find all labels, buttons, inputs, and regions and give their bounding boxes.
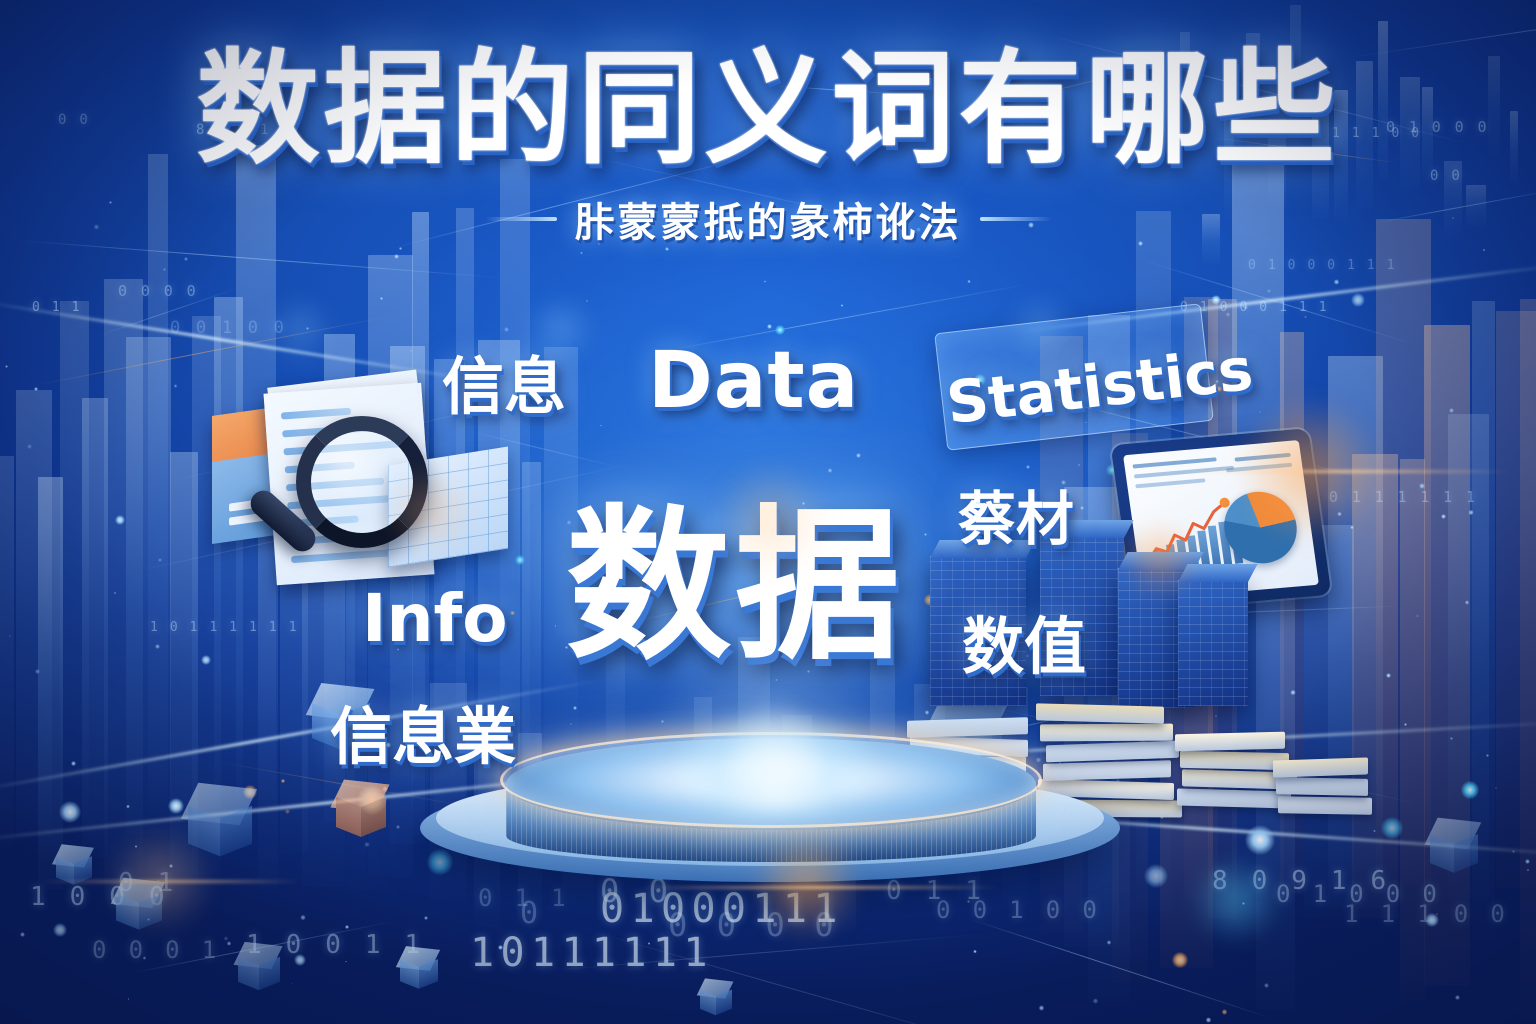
sparkle: [1026, 465, 1030, 469]
label-xinxiye: 信息業: [330, 686, 516, 776]
sparkle: [174, 384, 177, 387]
binary-digit-cluster: 1 0 1 1 1 1 1 1: [150, 620, 299, 635]
sparkle: [27, 444, 32, 449]
sparkle: [1304, 316, 1306, 318]
cube-left-face: [56, 857, 74, 885]
data-cube: [56, 846, 90, 887]
sparkle: [128, 998, 130, 1000]
network-edge: [550, 934, 973, 971]
book: [1175, 732, 1285, 752]
background-bar: [82, 398, 108, 858]
tablet-text-line: [1134, 466, 1234, 479]
sparkle: [394, 254, 399, 259]
network-node: [201, 655, 211, 665]
background-bar: [38, 477, 63, 889]
sparkle: [1527, 869, 1529, 871]
binary-digit-cluster: 0: [520, 896, 543, 931]
sparkle: [1242, 902, 1245, 905]
sparkle: [345, 925, 349, 929]
sparkle: [1039, 1005, 1044, 1010]
sparkle: [184, 257, 188, 261]
sparkle: [1350, 526, 1353, 529]
tablet-dashboard-icon: [1111, 428, 1332, 612]
binary-digit-cluster: 0 0 0 1: [92, 936, 220, 964]
binary-digit-cluster: 0 1: [118, 868, 177, 898]
binary-digit-cluster: 1 0 0 1 1: [246, 930, 424, 960]
cube-left-face: [700, 989, 716, 1014]
sparkle: [5, 365, 8, 368]
sparkle: [570, 723, 572, 725]
magnifier-icon: [296, 416, 428, 548]
network-edge: [968, 918, 1274, 1019]
sparkle: [1441, 514, 1446, 519]
sparkle: [967, 280, 971, 284]
binary-digit-cluster: 10111111: [470, 930, 714, 976]
title-block: 数据的同义词有哪些 胩蒙蒙抵的彖柿讹法: [0, 46, 1536, 248]
sparkle: [1290, 690, 1295, 695]
sparkle: [126, 805, 129, 808]
label-xinxi: 信息: [442, 336, 566, 426]
book: [1278, 796, 1372, 814]
sparkle: [1386, 673, 1391, 678]
background-bar: [1280, 332, 1304, 894]
sparkle: [163, 268, 166, 271]
sparkle: [1525, 859, 1530, 864]
cube-right-face: [716, 989, 732, 1014]
cube-right-face: [1454, 834, 1478, 872]
sparkle: [1243, 305, 1248, 310]
sparkle: [157, 880, 159, 882]
sparkle: [114, 592, 116, 594]
sparkle: [1160, 815, 1163, 818]
cube-top: [1425, 818, 1482, 850]
background-bar: [170, 452, 198, 878]
sparkle: [925, 710, 929, 714]
network-node: [1425, 913, 1439, 927]
data-cube: [336, 782, 384, 840]
sparkle: [1416, 615, 1418, 617]
light-flare: [1191, 855, 1281, 945]
poster-canvas: 0 0 0 00 1 10 0 1 0 08 0 9 1 60 1 0 0 01…: [0, 0, 1536, 1024]
book: [1036, 703, 1164, 723]
cube-left-face: [336, 797, 361, 837]
sparkle: [20, 932, 26, 938]
background-bar: [0, 456, 14, 847]
sparkle: [1483, 249, 1485, 251]
sparkle: [1512, 850, 1515, 853]
sparkle: [1259, 411, 1261, 413]
tablet-text-line: [1226, 463, 1292, 473]
sparkle: [1233, 683, 1238, 688]
magnifier-lens: [296, 416, 428, 548]
sparkle: [661, 720, 664, 723]
network-node: [294, 954, 306, 966]
background-bar: [104, 279, 143, 891]
cube-left-face: [1430, 834, 1454, 872]
network-node: [1381, 817, 1403, 839]
network-node: [1172, 952, 1188, 968]
sparkle: [1486, 754, 1489, 757]
sparkle: [504, 327, 509, 332]
sparkle: [285, 809, 290, 814]
sparkle: [498, 945, 503, 950]
sparkle: [1264, 983, 1269, 988]
tablet-bar-chart: [1123, 440, 1299, 455]
network-edge: [596, 932, 1019, 1024]
sparkle: [580, 252, 582, 254]
cube-right-face: [139, 894, 162, 931]
sparkle: [952, 594, 955, 597]
binary-digit-cluster: 0 0 1 0 0: [936, 896, 1101, 924]
tablet-text-line: [1132, 457, 1216, 468]
sparkle: [292, 983, 294, 985]
network-edge: [95, 287, 237, 336]
cube-left-face: [116, 894, 139, 931]
book: [1182, 769, 1297, 789]
sparkle: [1495, 787, 1497, 789]
binary-digit-cluster: 0 1 0 0 0 1 1 1: [1180, 300, 1329, 315]
cube-left-face: [238, 957, 259, 990]
sparkle: [345, 961, 347, 963]
page-title: 数据的同义词有哪些: [0, 46, 1536, 174]
data-cube: [400, 948, 436, 991]
sparkle: [424, 916, 428, 920]
binary-digit-cluster: 8 0 9 1 6: [1212, 866, 1390, 896]
sparkle: [841, 304, 844, 307]
label-data: Data: [648, 336, 859, 426]
lens-streak: [40, 880, 300, 883]
binary-digit-cluster: 0 0 1 0 0: [170, 318, 287, 338]
page-subtitle: 胩蒙蒙抵的彖柿讹法: [575, 190, 962, 248]
cube-top: [396, 946, 440, 971]
sparkle: [924, 533, 927, 536]
data-cube: [700, 980, 730, 1016]
network-node: [924, 594, 936, 606]
binary-digit-cluster: 1 0 0 0: [30, 882, 169, 912]
network-node: [1211, 295, 1221, 305]
cube-right-face: [74, 857, 92, 885]
cube-top: [330, 779, 389, 812]
network-node: [1144, 864, 1168, 888]
background-bar: [1496, 311, 1536, 888]
background-bar: [1448, 414, 1489, 899]
cube-left-face: [188, 805, 220, 856]
sparkle: [147, 918, 150, 921]
cube-top: [697, 978, 734, 999]
tablet-text-line: [1234, 453, 1290, 462]
cube-right-face: [259, 957, 280, 990]
tablet-screen: [1123, 440, 1319, 600]
sparkle: [1436, 913, 1438, 915]
cube-top: [111, 878, 165, 908]
network-node: [1461, 781, 1479, 799]
podium-light-ray: [720, 688, 832, 808]
sparkle: [1455, 995, 1460, 1000]
sparkle: [1226, 312, 1231, 317]
sparkle: [410, 350, 412, 352]
sparkle: [227, 941, 232, 946]
sparkle: [396, 825, 400, 829]
sparkle: [1078, 464, 1080, 466]
sparkle: [382, 786, 388, 792]
sparkle: [1373, 830, 1376, 833]
sparkle: [1337, 512, 1341, 516]
background-bar: [1400, 459, 1425, 1000]
sparkle: [1419, 483, 1425, 489]
sparkle: [555, 625, 557, 627]
subtitle-rule-left: [485, 217, 557, 221]
binary-digit-cluster: 1 1 1 0 0: [1344, 900, 1509, 928]
network-edge: [129, 921, 395, 974]
background-bar: [1328, 356, 1383, 908]
background-bar: [16, 390, 52, 837]
background-bar: [126, 337, 171, 835]
light-flare: [105, 825, 215, 935]
book: [1177, 788, 1291, 808]
tablet-text-line: [1135, 478, 1205, 488]
sparkle: [1465, 600, 1469, 604]
book: [1180, 751, 1289, 770]
network-node: [1245, 825, 1275, 855]
binary-digit-cluster: 0 1 1: [32, 300, 82, 315]
background-bar: [148, 154, 168, 815]
sparkle: [600, 425, 602, 427]
sparkle: [573, 706, 577, 710]
sparkle: [767, 324, 772, 329]
network-node: [59, 801, 81, 823]
sparkle: [306, 327, 309, 330]
network-node: [357, 785, 387, 815]
hero-word: 数据: [566, 452, 904, 691]
background-bar: [1376, 219, 1431, 885]
sparkle: [143, 956, 146, 959]
network-node: [243, 785, 257, 799]
sparkle: [1450, 737, 1453, 740]
sparkle: [1100, 549, 1103, 552]
sparkle: [973, 950, 976, 953]
sparkle: [1093, 998, 1098, 1003]
data-cube: [116, 880, 160, 933]
book: [1276, 777, 1368, 796]
binary-digit-cluster: 0 0 0 0: [668, 906, 839, 944]
cube-top: [233, 942, 282, 969]
subtitle-rule-right: [980, 217, 1052, 221]
sparkle: [224, 936, 229, 941]
background-bar: [1472, 301, 1495, 940]
sparkle: [135, 845, 137, 847]
sparkle: [71, 761, 76, 766]
network-node: [775, 325, 785, 335]
light-flare: [265, 295, 335, 365]
sparkle: [9, 635, 11, 637]
binary-digit-cluster: 0 0 0 0: [118, 282, 198, 300]
sparkle: [380, 297, 383, 300]
network-node: [168, 798, 184, 814]
background-bar: [60, 301, 89, 817]
sparkle: [35, 669, 40, 674]
sparkle: [510, 611, 515, 616]
label-caicai: 蔡材: [958, 472, 1074, 556]
sparkle: [1080, 506, 1084, 510]
glowing-podium: [420, 732, 1120, 892]
sparkle: [169, 864, 173, 868]
subtitle-row: 胩蒙蒙抵的彖柿讹法: [0, 190, 1536, 248]
network-node: [53, 923, 67, 937]
label-shuzhi: 数值: [962, 596, 1086, 686]
cube-right-face: [361, 797, 386, 837]
data-cube: [238, 944, 278, 992]
sparkle: [1468, 510, 1474, 516]
sparkle: [1099, 607, 1104, 612]
data-cube: [1430, 820, 1476, 875]
sparkle: [1404, 723, 1407, 726]
cube-right-face: [419, 959, 438, 989]
cube-top: [52, 844, 94, 867]
sparkle: [1206, 1017, 1211, 1022]
binary-digit-cluster: 0 1 0 0 0 1 1 1: [1248, 258, 1397, 273]
background-bar: [1520, 299, 1536, 1021]
sparkle: [1267, 760, 1271, 764]
background-bar: [1424, 325, 1470, 985]
sparkle: [281, 779, 285, 783]
cube-left-face: [400, 959, 419, 989]
sparkle: [586, 300, 588, 302]
sparkle: [1215, 715, 1217, 717]
sparkle: [1222, 1009, 1227, 1014]
sparkle: [300, 915, 306, 921]
data-cube: [188, 786, 250, 860]
book: [1273, 757, 1368, 777]
binary-digit-cluster: 01000111: [600, 886, 844, 932]
network-node: [515, 555, 525, 565]
sparkle: [1267, 289, 1271, 293]
cube-top: [181, 783, 257, 825]
sparkle: [967, 900, 970, 903]
sparkle: [158, 558, 162, 562]
sparkle: [34, 387, 38, 391]
sparkle: [764, 280, 766, 282]
background-bar: [1352, 454, 1398, 918]
sparkle: [155, 644, 160, 649]
network-node: [1351, 293, 1365, 307]
sparkle: [364, 842, 369, 847]
cube-right-face: [220, 805, 252, 856]
sparkle: [1087, 640, 1093, 646]
sparkle: [1334, 279, 1339, 284]
label-info: Info: [362, 580, 508, 657]
network-node: [115, 515, 125, 525]
sparkle: [1449, 408, 1453, 412]
sparkle: [648, 942, 651, 945]
sparkle: [1107, 940, 1111, 944]
binary-digit-cluster: 1 0 1 1 1 1 1 1: [1306, 488, 1477, 506]
binary-digit-cluster: 0 1 0 0 0: [1276, 880, 1441, 908]
